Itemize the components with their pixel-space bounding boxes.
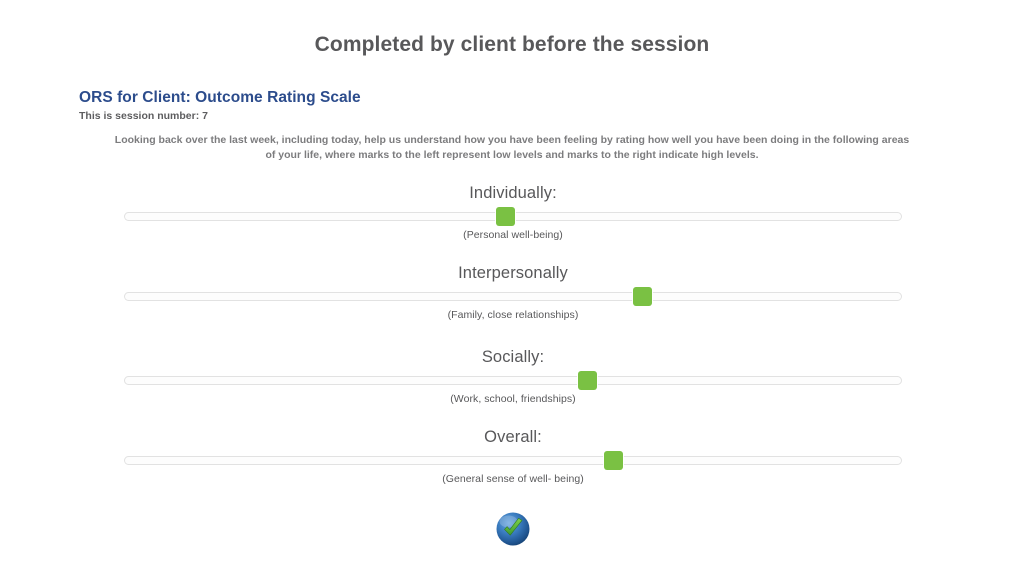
scale-sublabel: (Work, school, friendships) — [124, 393, 902, 405]
scale-block-overall: Overall: (General sense of well- being) — [124, 428, 902, 485]
slider-row[interactable] — [124, 209, 902, 223]
scale-block-individually: Individually: (Personal well-being) — [124, 184, 902, 241]
instructions-paragraph: Looking back over the last week, includi… — [112, 133, 912, 163]
slider-row[interactable] — [124, 373, 902, 387]
slide-title: Completed by client before the session — [0, 33, 1024, 57]
scale-label: Socially: — [124, 348, 902, 367]
scale-sublabel: (Family, close relationships) — [124, 309, 902, 321]
scale-sublabel: (Personal well-being) — [124, 229, 902, 241]
scale-label: Individually: — [124, 184, 902, 203]
slider-row[interactable] — [124, 453, 902, 467]
scale-block-socially: Socially: (Work, school, friendships) — [124, 348, 902, 405]
form-heading: ORS for Client: Outcome Rating Scale — [79, 89, 361, 107]
slider-thumb[interactable] — [633, 287, 652, 306]
slider-row[interactable] — [124, 289, 902, 303]
slider-track[interactable] — [124, 376, 902, 385]
slider-thumb[interactable] — [578, 371, 597, 390]
scale-block-interpersonally: Interpersonally (Family, close relations… — [124, 264, 902, 321]
session-number-label: This is session number: 7 — [79, 110, 208, 122]
scale-label: Interpersonally — [124, 264, 902, 283]
slider-thumb[interactable] — [496, 207, 515, 226]
slider-track[interactable] — [124, 292, 902, 301]
slider-thumb[interactable] — [604, 451, 623, 470]
scale-label: Overall: — [124, 428, 902, 447]
slide-canvas: Completed by client before the session O… — [0, 0, 1024, 576]
submit-button[interactable] — [495, 511, 531, 547]
scale-sublabel: (General sense of well- being) — [124, 473, 902, 485]
checkmark-circle-icon — [495, 511, 531, 547]
slider-track[interactable] — [124, 456, 902, 465]
